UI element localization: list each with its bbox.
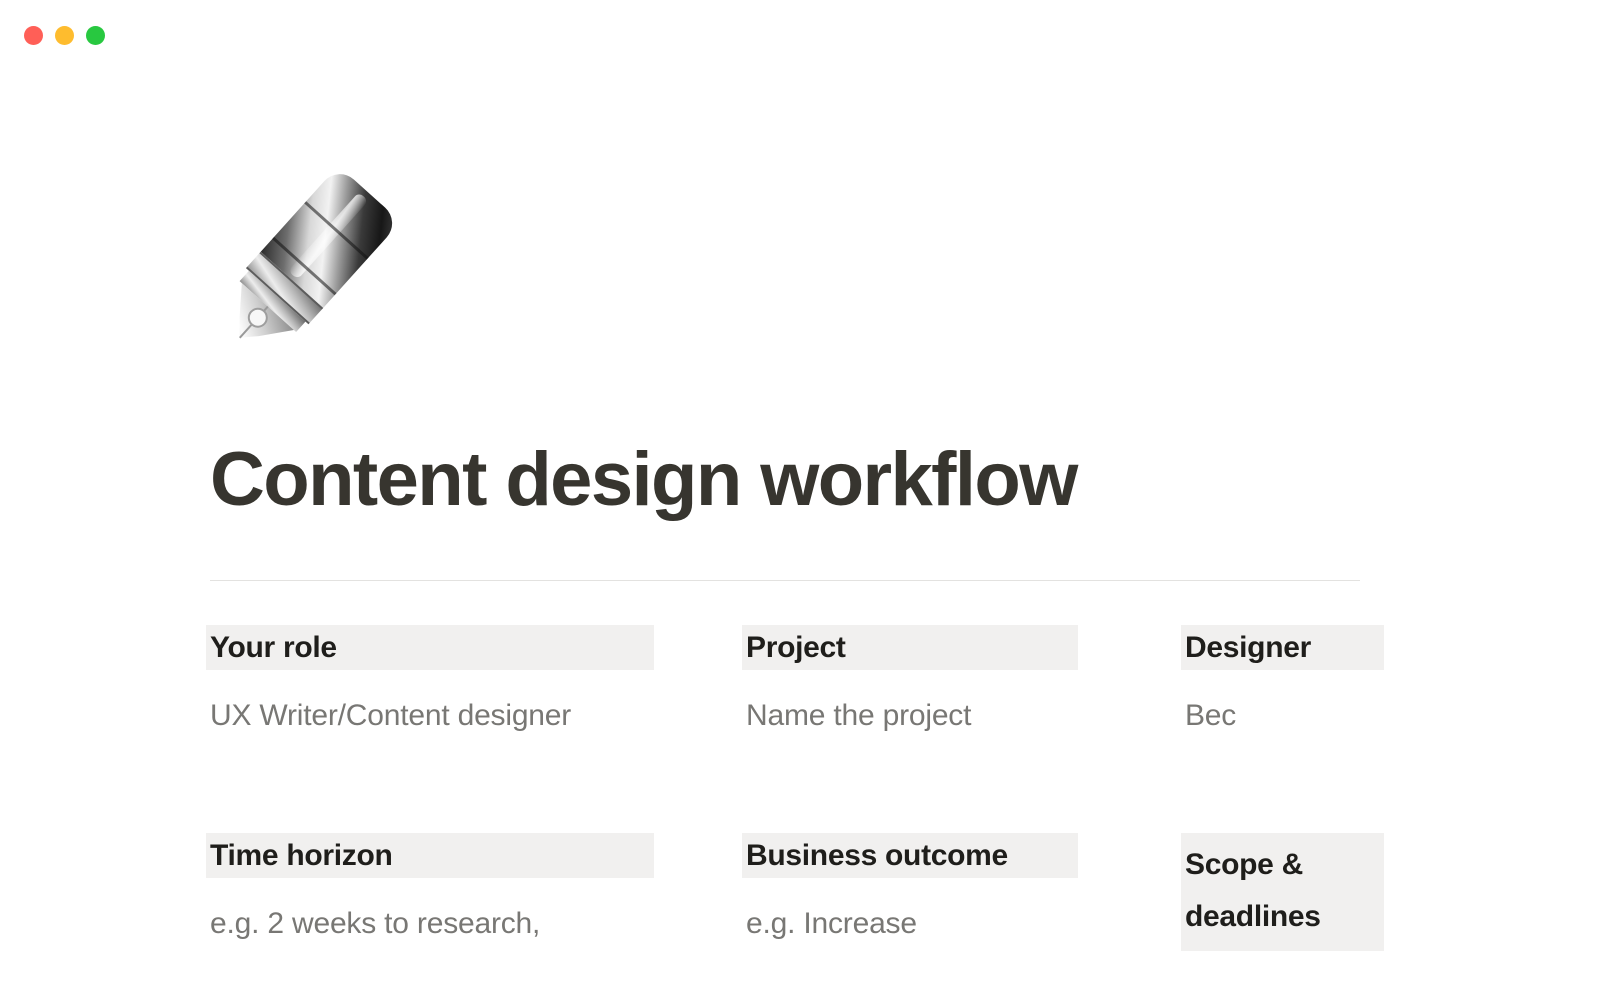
property-cell-scope-deadlines: Scope & deadlines (1185, 833, 1388, 977)
minimize-window-button[interactable] (55, 26, 74, 45)
property-value-project[interactable]: Name the project (746, 696, 1082, 736)
traffic-light-group (24, 26, 105, 45)
property-cell-designer: Designer Bec (1185, 625, 1388, 736)
property-label-project[interactable]: Project (742, 625, 1078, 670)
property-label-scope-deadlines[interactable]: Scope & deadlines (1181, 833, 1384, 951)
app-window: Content design workflow Your role UX Wri… (0, 0, 1600, 1000)
property-row: Your role UX Writer/Content designer Pro… (210, 625, 1390, 833)
property-cell-business-outcome: Business outcome e.g. Increase (746, 833, 1082, 944)
property-row: Time horizon e.g. 2 weeks to research, B… (210, 833, 1390, 1000)
page-title[interactable]: Content design workflow (210, 440, 1077, 520)
property-cell-project: Project Name the project (746, 625, 1082, 736)
property-value-business-outcome[interactable]: e.g. Increase (746, 904, 1082, 944)
property-label-your-role[interactable]: Your role (206, 625, 654, 670)
black-nib-icon[interactable] (213, 162, 403, 362)
window-titlebar (0, 0, 1600, 62)
property-value-designer[interactable]: Bec (1185, 696, 1388, 736)
property-value-your-role[interactable]: UX Writer/Content designer (210, 696, 658, 736)
document-page: Content design workflow Your role UX Wri… (0, 62, 1600, 1000)
property-label-designer[interactable]: Designer (1181, 625, 1384, 670)
zoom-window-button[interactable] (86, 26, 105, 45)
property-value-time-horizon[interactable]: e.g. 2 weeks to research, (210, 904, 658, 944)
close-window-button[interactable] (24, 26, 43, 45)
section-divider (210, 580, 1360, 581)
property-grid: Your role UX Writer/Content designer Pro… (210, 625, 1390, 1000)
property-cell-time-horizon: Time horizon e.g. 2 weeks to research, (210, 833, 658, 944)
property-label-business-outcome[interactable]: Business outcome (742, 833, 1078, 878)
property-label-time-horizon[interactable]: Time horizon (206, 833, 654, 878)
property-cell-your-role: Your role UX Writer/Content designer (210, 625, 658, 736)
